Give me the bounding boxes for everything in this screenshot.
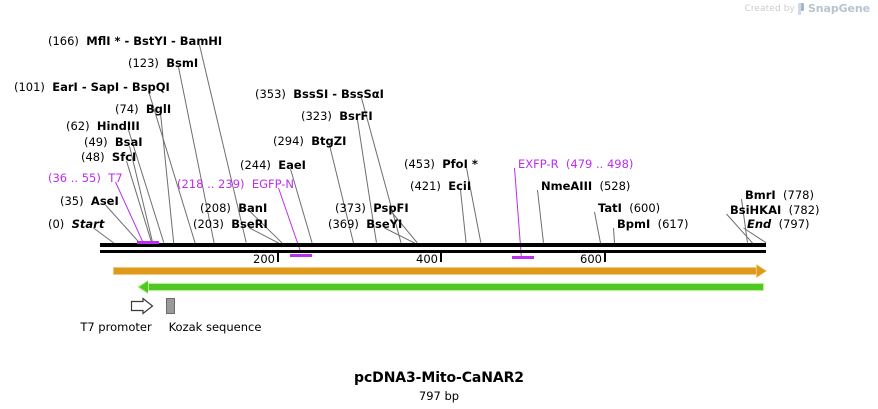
label-bpmi-leader-line [613,228,615,243]
label-pfoi-position: (453) [404,157,435,171]
plasmid-map: Created by SnapGene (166) MflI * - BstYI… [0,0,878,409]
label-bsai-name: BsaI [115,135,143,149]
label-bseri-name: BseRI [231,217,268,231]
label-pspfi-position: (373) [335,201,366,215]
label-start-position: (0) [48,217,64,231]
label-end-position: (797) [779,217,810,231]
label-btgzi[interactable]: (294) BtgZI [273,135,346,147]
label-bpmi-position: (617) [658,217,689,231]
label-bgli-position: (74) [115,102,139,116]
sequence-backbone-top [100,243,766,247]
label-nmeaiii-position: (528) [599,179,630,193]
label-bseri-position: (203) [193,217,224,231]
label-bssi-bsssai-position: (353) [255,87,286,101]
label-tati-name: TatI [598,201,622,215]
label-bgli-leader-line [160,113,174,243]
label-sfci-name: SfcI [112,150,136,164]
egfp-n-primer-mark [290,254,312,257]
kozak-sequence-box-icon [166,298,175,314]
label-bseyi[interactable]: (369) BseYI [328,218,402,230]
label-pspfi[interactable]: (373) PspFI [335,202,409,214]
label-hindiii-name: HindIII [97,119,140,133]
label-exfp-r-name: EXFP-R [518,157,559,171]
label-eari-sapi-bspqi[interactable]: (101) EarI - SapI - BspQI [14,81,170,93]
ruler-label-200: 200 [253,252,275,266]
label-hindiii-position: (62) [66,119,90,133]
label-tati-leader-line [594,212,601,243]
label-mfli-bstyi-bamhi-name: MflI * - BstYI - BamHI [86,34,222,48]
label-btgzi-name: BtgZI [311,134,346,148]
snapgene-brand: SnapGene [808,2,870,15]
label-bseyi-position: (369) [328,217,359,231]
label-bmri-position: (778) [783,188,814,202]
label-eari-sapi-bspqi-position: (101) [14,80,45,94]
label-asei-position: (35) [60,194,84,208]
label-sfci[interactable]: (48) SfcI [81,151,136,163]
ruler-tick-400 [440,253,442,262]
label-bssi-bsssai-name: BssSI - BssSαI [293,87,384,101]
label-nmeaiii-name: NmeAIII [541,179,592,193]
label-bmri[interactable]: BmrI (778) [745,189,814,201]
label-bsmi-name: BsmI [166,56,198,70]
label-bsmi-position: (123) [128,56,159,70]
label-egfp-n[interactable]: (218 .. 239) EGFP-N [177,178,294,190]
label-bpmi[interactable]: BpmI (617) [617,218,689,230]
label-ecli-position: (421) [410,179,441,193]
cds-arrow-orange [113,267,758,275]
credit-prefix: Created by [744,4,795,14]
plasmid-title: pcDNA3-Mito-CaNAR2 [0,370,878,386]
label-bseyi-name: BseYI [366,217,402,231]
label-bsai[interactable]: (49) BsaI [84,136,143,148]
label-asei[interactable]: (35) AseI [60,195,119,207]
ruler-label-400: 400 [416,252,438,266]
label-bsihkai-position: (782) [789,203,820,217]
label-bsmi[interactable]: (123) BsmI [128,57,198,69]
label-pfoi-name: PfoI * [442,157,478,171]
snapgene-credit: Created by SnapGene [744,2,870,15]
label-bsai-position: (49) [84,135,108,149]
orf-arrow-green [148,283,764,291]
label-bgli-name: BglI [146,102,171,116]
label-sfci-position: (48) [81,150,105,164]
snapgene-logo-icon [798,3,805,15]
label-end-name: End [747,217,771,231]
label-bsrfi-name: BsrFI [339,109,372,123]
label-start-name: Start [72,217,105,231]
label-bpmi-name: BpmI [617,217,650,231]
t7-promoter-arrow-svg [130,297,154,315]
label-eaei[interactable]: (244) EaeI [240,159,306,171]
label-egfp-n-name: EGFP-N [252,177,294,191]
label-start[interactable]: (0) Start [48,218,104,230]
label-btgzi-position: (294) [273,134,304,148]
label-end[interactable]: End (797) [747,218,810,230]
orf-arrow-green-head [139,281,148,293]
cds-arrow-orange-head [757,265,766,277]
label-bani-position: (208) [200,201,231,215]
label-bani[interactable]: (208) BanI [200,202,267,214]
label-ecli-name: EciI [448,179,471,193]
label-exfp-r[interactable]: EXFP-R (479 .. 498) [518,158,633,170]
label-eaei-name: EaeI [278,158,306,172]
label-bseri[interactable]: (203) BseRI [193,218,268,230]
legend-label-kozak-sequence: Kozak sequence [163,320,267,334]
label-bmri-name: BmrI [745,188,776,202]
label-egfp-n-position: (218 .. 239) [177,177,245,191]
label-pspfi-name: PspFI [373,201,408,215]
label-t7[interactable]: (36 .. 55) T7 [48,172,123,184]
label-bgli[interactable]: (74) BglI [115,103,171,115]
t7-promoter-arrow-icon [130,297,154,315]
label-ecli[interactable]: (421) EciI [410,180,471,192]
label-nmeaiii-leader-line [537,190,544,243]
label-hindiii[interactable]: (62) HindIII [66,120,140,132]
label-bssi-bsssai[interactable]: (353) BssSI - BssSαI [255,88,384,100]
label-ecli-leader-line [460,190,467,243]
label-pfoi[interactable]: (453) PfoI * [404,158,478,170]
exfp-r-primer-mark [512,256,534,259]
label-mfli-bstyi-bamhi-position: (166) [48,34,79,48]
label-bani-name: BanI [238,201,267,215]
label-bsihkai[interactable]: BsiHKAI (782) [730,204,820,216]
label-bsihkai-name: BsiHKAI [730,203,781,217]
label-bsrfi-position: (323) [301,109,332,123]
label-mfli-bstyi-bamhi[interactable]: (166) MflI * - BstYI - BamHI [48,35,222,47]
label-nmeaiii[interactable]: NmeAIII (528) [541,180,630,192]
ruler-tick-200 [277,253,279,262]
t7-promoter-mark [137,241,159,244]
label-tati-position: (600) [629,201,660,215]
label-tati[interactable]: TatI (600) [598,202,660,214]
label-bsrfi[interactable]: (323) BsrFI [301,110,373,122]
label-eaei-position: (244) [240,158,271,172]
label-asei-name: AseI [91,194,119,208]
label-eari-sapi-bspqi-name: EarI - SapI - BspQI [52,80,170,94]
label-t7-name: T7 [108,171,122,185]
label-t7-position: (36 .. 55) [48,171,101,185]
label-exfp-r-position: (479 .. 498) [566,157,634,171]
legend-label-t7-promoter: T7 promoter [78,320,154,334]
plasmid-size: 797 bp [0,389,878,403]
ruler-tick-600 [604,253,606,262]
ruler-label-600: 600 [580,252,602,266]
